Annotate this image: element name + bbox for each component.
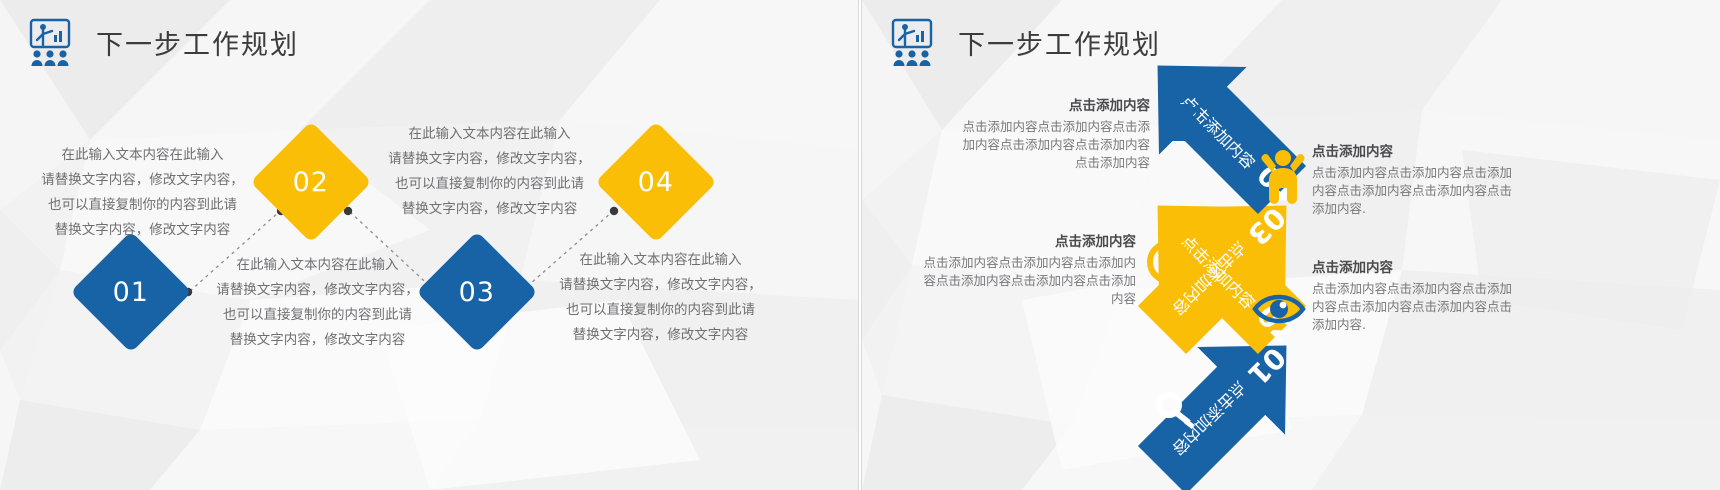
text-03-line-2: 请替换文字内容，修改文字内容， bbox=[377, 147, 602, 172]
node-01-number: 01 bbox=[113, 276, 149, 307]
node-04-number: 04 bbox=[638, 166, 674, 197]
text-03-line-3: 也可以直接复制你的内容到此请 bbox=[377, 172, 602, 197]
text-03: 在此输入文本内容在此输入 请替换文字内容，修改文字内容， 也可以直接复制你的内容… bbox=[377, 122, 602, 222]
block-02-title: 点击添加内容 bbox=[868, 232, 1136, 252]
block-03: 点击添加内容 点击添加内容点击添加内容点击添加 内容点击添加内容点击添加内容点击… bbox=[1312, 142, 1612, 218]
text-04-line-1: 在此输入文本内容在此输入 bbox=[548, 248, 773, 273]
text-04: 在此输入文本内容在此输入 请替换文字内容，修改文字内容， 也可以直接复制你的内容… bbox=[548, 248, 773, 348]
text-02: 在此输入文本内容在此输入 请替换文字内容，修改文字内容， 也可以直接复制你的内容… bbox=[205, 253, 430, 353]
node-03[interactable]: 03 bbox=[416, 231, 538, 353]
block-04: 点击添加内容 点击添加内容点击添加内容点击添 加内容点击添加内容点击添加内容 点… bbox=[880, 96, 1150, 172]
text-02-line-1: 在此输入文本内容在此输入 bbox=[205, 253, 430, 278]
key-icon bbox=[1154, 388, 1200, 434]
node-03-number: 03 bbox=[459, 276, 495, 307]
block-03-line-2: 内容点击添加内容点击添加内容点击 bbox=[1312, 182, 1612, 200]
block-02-line-2: 容点击添加内容点击添加内容点击添加 bbox=[868, 272, 1136, 290]
block-04-line-2: 加内容点击添加内容点击添加内容 bbox=[880, 136, 1150, 154]
text-03-line-4: 替换文字内容，修改文字内容 bbox=[377, 197, 602, 222]
slide-left: 下一步工作规划 bbox=[0, 0, 858, 490]
slide-right: 下一步工作规划 bbox=[862, 0, 1720, 490]
text-02-line-2: 请替换文字内容，修改文字内容， bbox=[205, 278, 430, 303]
person-celebrate-icon bbox=[1260, 148, 1306, 206]
text-04-line-2: 请替换文字内容，修改文字内容， bbox=[548, 273, 773, 298]
node-01[interactable]: 01 bbox=[70, 231, 192, 353]
block-04-title: 点击添加内容 bbox=[880, 96, 1150, 116]
block-04-line-3: 点击添加内容 bbox=[880, 154, 1150, 172]
text-01-line-1: 在此输入文本内容在此输入 bbox=[30, 143, 255, 168]
node-02-number: 02 bbox=[293, 166, 329, 197]
text-01-line-3: 也可以直接复制你的内容到此请 bbox=[30, 193, 255, 218]
presentation-training-icon bbox=[22, 14, 78, 70]
node-02[interactable]: 02 bbox=[250, 121, 372, 243]
text-04-line-4: 替换文字内容，修改文字内容 bbox=[548, 323, 773, 348]
block-01-line-2: 内容点击添加内容点击添加内容点击 bbox=[1312, 298, 1612, 316]
text-01: 在此输入文本内容在此输入 请替换文字内容，修改文字内容， 也可以直接复制你的内容… bbox=[30, 143, 255, 243]
block-03-title: 点击添加内容 bbox=[1312, 142, 1612, 162]
text-01-line-2: 请替换文字内容，修改文字内容， bbox=[30, 168, 255, 193]
block-01-title: 点击添加内容 bbox=[1312, 258, 1612, 278]
block-01-line-3: 添加内容. bbox=[1312, 316, 1612, 334]
text-03-line-1: 在此输入文本内容在此输入 bbox=[377, 122, 602, 147]
block-02-line-1: 点击添加内容点击添加内容点击添加内 bbox=[868, 254, 1136, 272]
page-title: 下一步工作规划 bbox=[96, 23, 299, 62]
block-02: 点击添加内容 点击添加内容点击添加内容点击添加内 容点击添加内容点击添加内容点击… bbox=[868, 232, 1136, 308]
text-04-line-3: 也可以直接复制你的内容到此请 bbox=[548, 298, 773, 323]
block-02-line-3: 内容 bbox=[868, 290, 1136, 308]
block-04-line-1: 点击添加内容点击添加内容点击添 bbox=[880, 118, 1150, 136]
clock-icon bbox=[1144, 237, 1194, 287]
block-01: 点击添加内容 点击添加内容点击添加内容点击添加 内容点击添加内容点击添加内容点击… bbox=[1312, 258, 1612, 334]
block-03-line-1: 点击添加内容点击添加内容点击添加 bbox=[1312, 164, 1612, 182]
slide-header: 下一步工作规划 bbox=[22, 14, 299, 70]
slide-deck: 下一步工作规划 bbox=[0, 0, 1720, 490]
text-02-line-4: 替换文字内容，修改文字内容 bbox=[205, 328, 430, 353]
text-01-line-4: 替换文字内容，修改文字内容 bbox=[30, 218, 255, 243]
node-04[interactable]: 04 bbox=[595, 121, 717, 243]
block-03-line-3: 添加内容. bbox=[1312, 200, 1612, 218]
eye-icon bbox=[1252, 290, 1306, 328]
block-01-line-1: 点击添加内容点击添加内容点击添加 bbox=[1312, 280, 1612, 298]
trophy-icon bbox=[1156, 100, 1204, 146]
text-02-line-3: 也可以直接复制你的内容到此请 bbox=[205, 303, 430, 328]
